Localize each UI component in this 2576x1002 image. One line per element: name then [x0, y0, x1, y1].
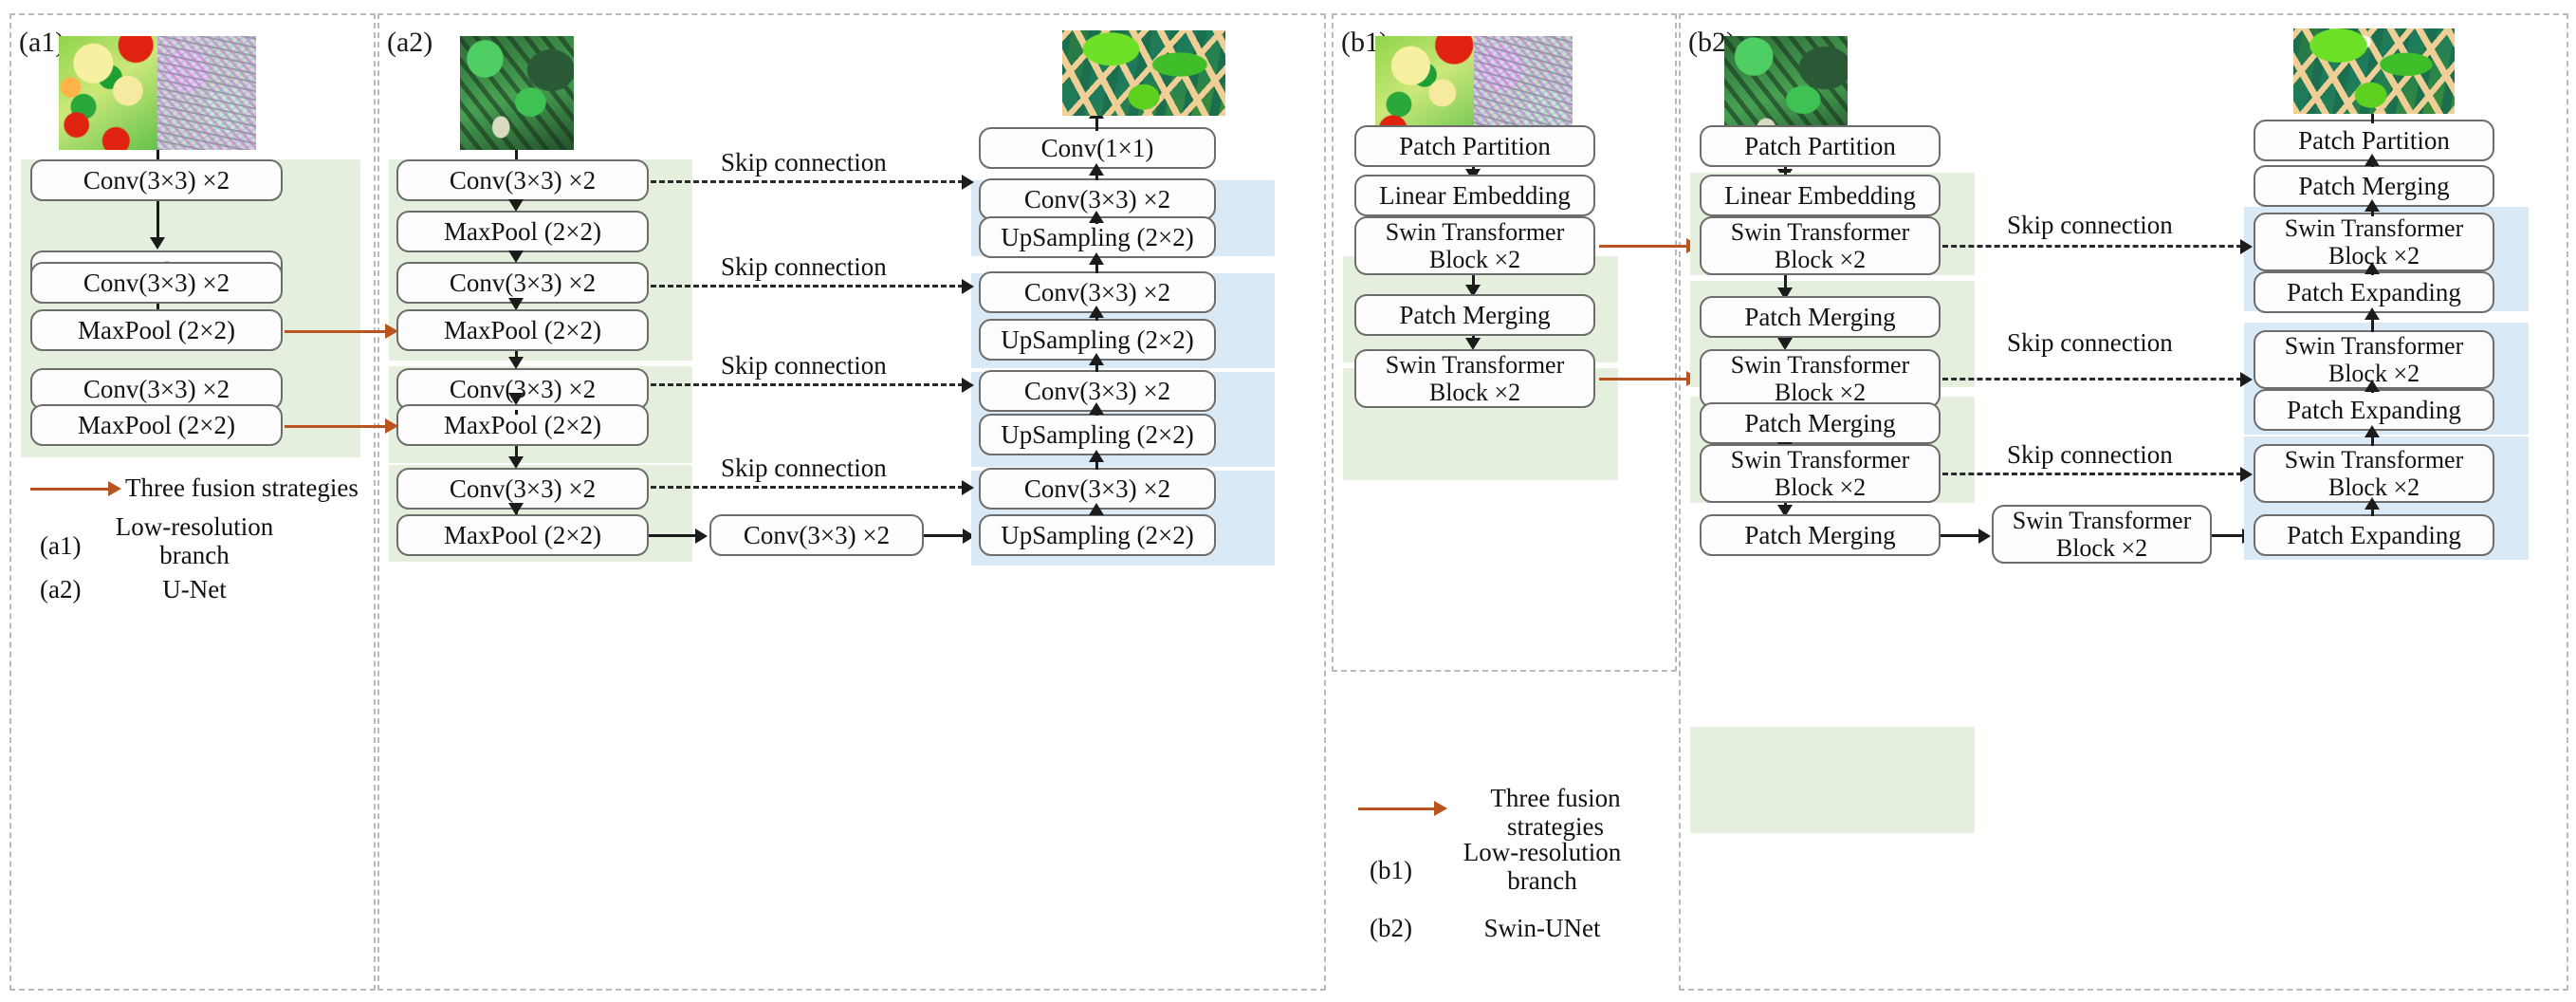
a2-skip-label-2: Skip connection — [721, 252, 887, 282]
a1-block-maxpool-3[interactable]: MaxPool (2×2) — [30, 404, 283, 446]
b2-enc-swin-2[interactable]: Swin Transformer Block ×2 — [1700, 349, 1941, 408]
a2-skip-line-4 — [651, 486, 964, 489]
thumb-a1-right-half — [157, 36, 256, 150]
a1-block-maxpool-2[interactable]: MaxPool (2×2) — [30, 309, 283, 351]
legend-left-fusion-head — [108, 481, 121, 496]
b2-dec-head-0 — [2364, 199, 2380, 212]
b2-enc-swin-1-line2: Block ×2 — [1775, 246, 1866, 273]
a2-enc-head-2 — [508, 250, 524, 263]
legend-right-b1-tag: (b1) — [1370, 856, 1412, 885]
legend-right-fusion-line1: Three fusion — [1451, 784, 1660, 813]
a2-dec-head-2 — [1089, 306, 1104, 318]
a2-enc-head-7 — [508, 503, 524, 515]
a2-enc-head-5 — [508, 393, 524, 405]
b1-swin-2-line2: Block ×2 — [1429, 379, 1520, 406]
b2-dec-swin-1-line1: Swin Transformer — [2285, 214, 2464, 242]
a2-bottleneck-out-line — [924, 534, 966, 537]
b2-enc-swin-3-line2: Block ×2 — [1775, 473, 1866, 501]
legend-right-b1-line2: branch — [1438, 866, 1647, 896]
thumbnail-a2-output — [1062, 30, 1225, 116]
thumb-a1-left-half — [59, 36, 157, 150]
b2-skip-head-1 — [2240, 239, 2253, 254]
thumbnail-b2-output — [2293, 28, 2455, 114]
fusion-arrow-b-1 — [1599, 245, 1690, 248]
b2-skip-label-3: Skip connection — [2007, 440, 2173, 470]
a2-skip-line-2 — [651, 285, 964, 288]
a2-enc-maxpool-1[interactable]: MaxPool (2×2) — [396, 211, 649, 252]
b2-enc-swin-1[interactable]: Swin Transformer Block ×2 — [1700, 216, 1941, 275]
b2-enc-swin-3-line1: Swin Transformer — [1731, 446, 1910, 473]
b2-dec-swin-3-line1: Swin Transformer — [2285, 446, 2464, 473]
figure-canvas: (a1) (a2) (b1) (b2) Conv(3×3) ×2 MaxPool… — [0, 0, 2576, 1002]
a2-enc-maxpool-4[interactable]: MaxPool (2×2) — [396, 514, 649, 556]
fusion-head-a-1 — [385, 324, 398, 339]
a2-skip-label-1: Skip connection — [721, 148, 887, 177]
a2-enc-conv-1[interactable]: Conv(3×3) ×2 — [396, 159, 649, 201]
a2-skip-head-2 — [962, 279, 974, 294]
a2-dec-up-4[interactable]: UpSampling (2×2) — [979, 514, 1216, 556]
b2-enc-patch-merging-2[interactable]: Patch Merging — [1700, 402, 1941, 444]
thumbnail-a2-input — [460, 36, 574, 150]
b2-dec-head-2 — [2364, 380, 2380, 392]
b2-enc-swin-3[interactable]: Swin Transformer Block ×2 — [1700, 444, 1941, 503]
legend-left-a1-line1: Low-resolution — [104, 512, 285, 542]
thumbnail-a1-input — [59, 36, 256, 150]
b1-swin-1-line2: Block ×2 — [1429, 246, 1520, 273]
fusion-arrow-b-2 — [1599, 378, 1690, 380]
b2-dec-head-top — [2364, 154, 2380, 166]
a2-dec-head-4 — [1089, 503, 1104, 515]
a2-skip-head-1 — [962, 175, 974, 190]
a1-block-conv-2[interactable]: Conv(3×3) ×2 — [30, 262, 283, 304]
a2-dec-head-2b — [1089, 353, 1104, 365]
a2-skip-line-3 — [651, 383, 964, 386]
a2-dec-head-1b — [1089, 252, 1104, 265]
a2-dec-head-3b — [1089, 450, 1104, 462]
band-b2-enc-4 — [1690, 727, 1975, 833]
fusion-arrow-a-1 — [285, 330, 389, 333]
b2-dec-patch-expanding-3[interactable]: Patch Expanding — [2254, 514, 2494, 556]
legend-left-a2-text: U-Net — [104, 575, 285, 604]
b2-enc-patch-merging-3[interactable]: Patch Merging — [1700, 514, 1941, 556]
a2-skip-head-4 — [962, 480, 974, 495]
fusion-head-a-2 — [385, 418, 398, 434]
b1-block-linear-embedding[interactable]: Linear Embedding — [1354, 175, 1595, 216]
legend-left-a1-tag: (a1) — [40, 531, 81, 561]
legend-left-fusion-line — [30, 488, 112, 491]
b2-dec-swin-3[interactable]: Swin Transformer Block ×2 — [2254, 444, 2494, 503]
b2-dec-head-3 — [2364, 497, 2380, 510]
b2-bottleneck[interactable]: Swin Transformer Block ×2 — [1992, 505, 2212, 564]
b1-swin-1-line1: Swin Transformer — [1386, 218, 1565, 246]
a2-bottleneck-in-head — [695, 529, 708, 544]
a2-skip-line-1 — [651, 180, 964, 183]
a2-dec-head-0 — [1089, 163, 1104, 176]
legend-left-a1-line2: branch — [104, 541, 285, 570]
b2-skip-line-2 — [1942, 378, 2242, 380]
legend-left-fusion-label: Three fusion strategies — [125, 473, 359, 503]
b2-enc-swin-1-line1: Swin Transformer — [1731, 218, 1910, 246]
legend-right-b2-text: Swin-UNet — [1438, 914, 1647, 943]
fusion-arrow-a-2 — [285, 425, 389, 428]
b2-skip-label-1: Skip connection — [2007, 211, 2173, 240]
a2-enc-maxpool-3[interactable]: MaxPool (2×2) — [396, 404, 649, 446]
a2-enc-head-3 — [508, 298, 524, 310]
a2-dec-head-3 — [1089, 402, 1104, 415]
a2-enc-head-1 — [508, 199, 524, 212]
panel-a2-tag: (a2) — [387, 28, 432, 57]
a2-skip-label-3: Skip connection — [721, 351, 887, 380]
b2-dec-head-1 — [2364, 262, 2380, 274]
a1-head-1 — [150, 237, 165, 250]
b2-enc-patch-partition[interactable]: Patch Partition — [1700, 125, 1941, 167]
a1-block-conv-1[interactable]: Conv(3×3) ×2 — [30, 159, 283, 201]
b2-skip-head-3 — [2240, 467, 2253, 482]
legend-right-b2-tag: (b2) — [1370, 914, 1412, 943]
a1-conn-1 — [156, 201, 159, 241]
legend-right-b1-line1: Low-resolution — [1438, 838, 1647, 867]
b2-bottleneck-line1: Swin Transformer — [2013, 507, 2192, 534]
a2-dec-head-1 — [1089, 211, 1104, 223]
b1-block-patch-merging[interactable]: Patch Merging — [1354, 294, 1595, 336]
b1-block-patch-partition[interactable]: Patch Partition — [1354, 125, 1595, 167]
b1-swin-2-line1: Swin Transformer — [1386, 351, 1565, 379]
a2-skip-head-3 — [962, 378, 974, 393]
legend-left-a2-tag: (a2) — [40, 575, 81, 604]
a2-bottleneck[interactable]: Conv(3×3) ×2 — [709, 514, 924, 556]
b2-enc-linear-embedding[interactable]: Linear Embedding — [1700, 175, 1941, 216]
b2-skip-label-2: Skip connection — [2007, 328, 2173, 358]
a2-skip-label-4: Skip connection — [721, 454, 887, 483]
b2-dec-swin-2-line1: Swin Transformer — [2285, 332, 2464, 360]
b1-block-swin-2[interactable]: Swin Transformer Block ×2 — [1354, 349, 1595, 408]
b2-bottleneck-in-head — [1978, 529, 1991, 544]
b2-dec-head-1b — [2364, 307, 2380, 320]
b2-enc-swin-2-line1: Swin Transformer — [1731, 351, 1910, 379]
b2-skip-line-3 — [1942, 473, 2242, 475]
band-a1-stage3 — [21, 446, 360, 455]
a2-enc-maxpool-2[interactable]: MaxPool (2×2) — [396, 309, 649, 351]
a2-enc-head-4 — [508, 357, 524, 369]
b2-bottleneck-in-line — [1941, 534, 1980, 537]
a2-bottleneck-in-line — [649, 534, 698, 537]
b2-dec-head-2b — [2364, 425, 2380, 437]
legend-right-fusion-line — [1358, 807, 1438, 810]
b2-bottleneck-out-line — [2212, 534, 2244, 537]
b2-bottleneck-line2: Block ×2 — [2056, 534, 2147, 562]
b2-enc-patch-merging-1[interactable]: Patch Merging — [1700, 296, 1941, 338]
legend-right-fusion-head — [1434, 801, 1447, 816]
a2-enc-conn-5 — [515, 410, 518, 415]
a2-enc-head-6 — [508, 456, 524, 469]
b2-skip-line-1 — [1942, 245, 2242, 248]
b1-block-swin-1[interactable]: Swin Transformer Block ×2 — [1354, 216, 1595, 275]
b2-skip-head-2 — [2240, 372, 2253, 387]
